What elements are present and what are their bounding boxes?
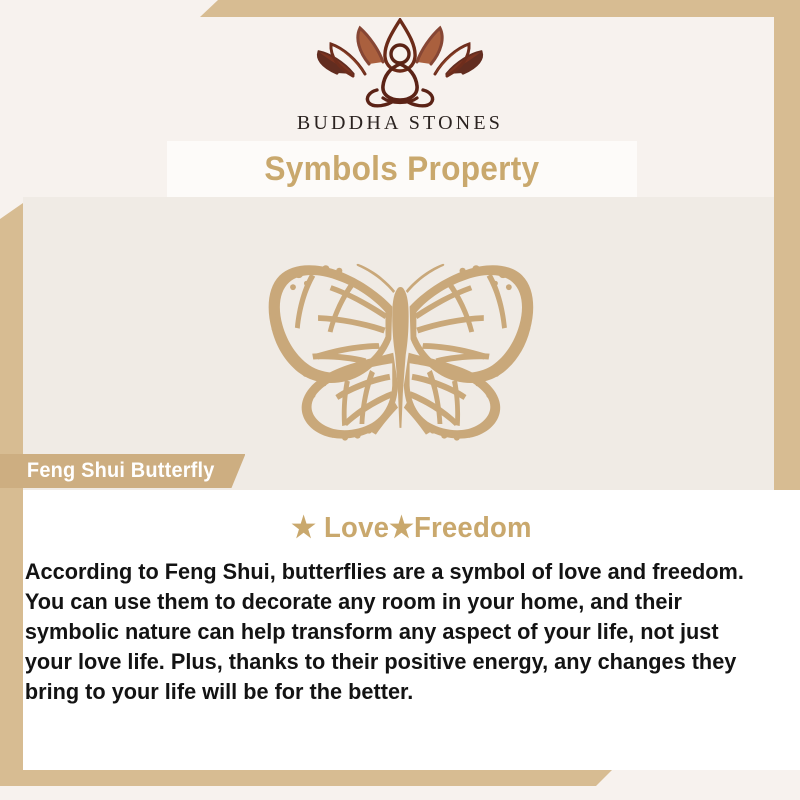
brand-name: BUDDHA STONES	[270, 112, 530, 135]
feature-panel	[23, 197, 774, 490]
description-section: ★ Love★Freedom According to Feng Shui, b…	[23, 490, 800, 770]
brand-header: BUDDHA STONES	[0, 0, 800, 140]
section-title-band: Symbols Property	[167, 141, 637, 197]
subheading: ★ Love★Freedom	[42, 490, 780, 545]
lotus-meditation-icon	[270, 18, 530, 110]
ribbon-label-text: Feng Shui Butterfly	[27, 459, 215, 483]
page-title: Symbols Property	[264, 150, 539, 189]
gold-accent-left	[0, 203, 23, 786]
description-paragraph: According to Feng Shui, butterflies are …	[21, 545, 764, 707]
brand-logo: BUDDHA STONES	[270, 18, 530, 135]
butterfly-icon	[234, 239, 564, 451]
promo-card: BUDDHA STONES Symbols Property	[0, 0, 800, 800]
gold-accent-bottom	[0, 768, 614, 786]
ribbon-label: Feng Shui Butterfly	[0, 454, 245, 488]
